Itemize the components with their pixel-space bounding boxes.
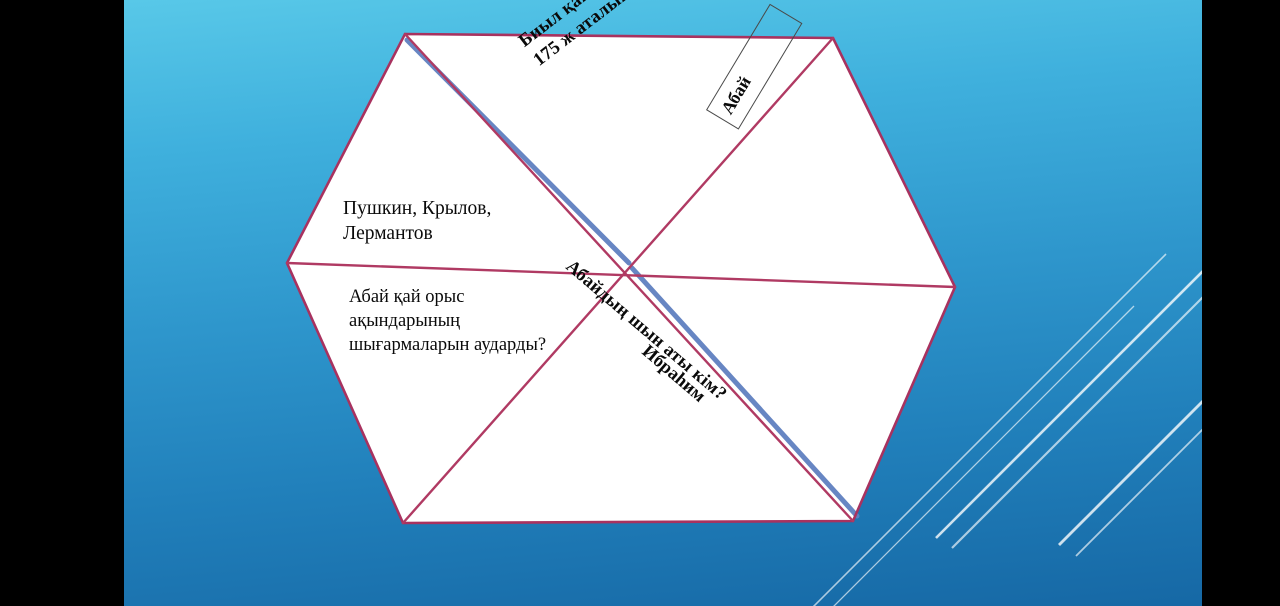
slide-root: Пушкин, Крылов, Лермантов Абай қай орыс … [0,0,1280,606]
slide-canvas: Пушкин, Крылов, Лермантов Абай қай орыс … [124,0,1202,606]
hexagon-figure[interactable] [124,0,1202,606]
letterbox-right [1202,0,1280,606]
sector-label-left-answer[interactable]: Пушкин, Крылов, Лермантов [343,196,593,247]
sector-label-translation-question[interactable]: Абай қай орыс ақындарының шығармаларын а… [349,285,594,357]
letterbox-left [0,0,124,606]
